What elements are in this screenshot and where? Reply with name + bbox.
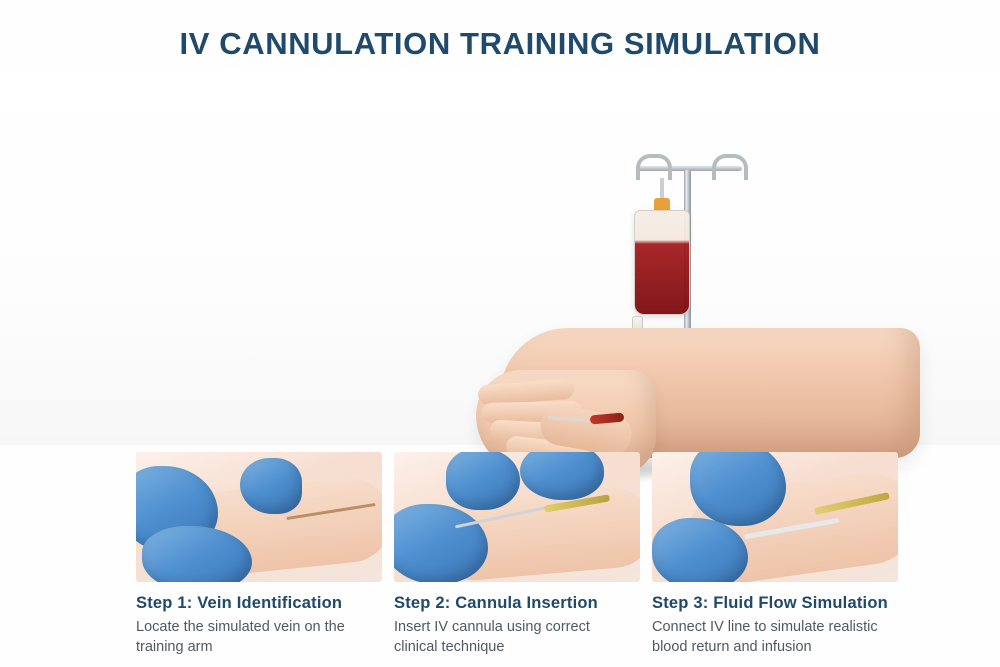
gloved-hand-icon [520,452,604,500]
iv-fluid-bag [634,210,690,315]
poster-root: IV CANNULATION TRAINING SIMULATION [0,0,1000,667]
step-2-title: Step 2: Cannula Insertion [394,594,640,613]
step-card-3: Step 3: Fluid Flow Simulation Connect IV… [652,452,898,652]
steps-row: Step 1: Vein Identification Locate the s… [136,452,896,652]
iv-hook-icon [652,154,672,180]
gloved-fingertip-icon [240,458,302,514]
step-1-desc: Locate the simulated vein on the trainin… [136,618,371,657]
step-3-title: Step 3: Fluid Flow Simulation [652,594,898,613]
hero-scene [0,70,1000,445]
step-3-desc: Connect IV line to simulate realistic bl… [652,618,887,657]
step-2-desc: Insert IV cannula using correct clinical… [394,618,629,657]
step-2-photo [394,452,640,582]
step-card-2: Step 2: Cannula Insertion Insert IV cann… [394,452,640,652]
iv-hook-icon [728,154,748,180]
step-1-photo [136,452,382,582]
page-title: IV CANNULATION TRAINING SIMULATION [0,26,1000,62]
step-3-photo [652,452,898,582]
step-card-1: Step 1: Vein Identification Locate the s… [136,452,382,652]
step-1-title: Step 1: Vein Identification [136,594,382,613]
gloved-hand-icon [446,452,520,510]
